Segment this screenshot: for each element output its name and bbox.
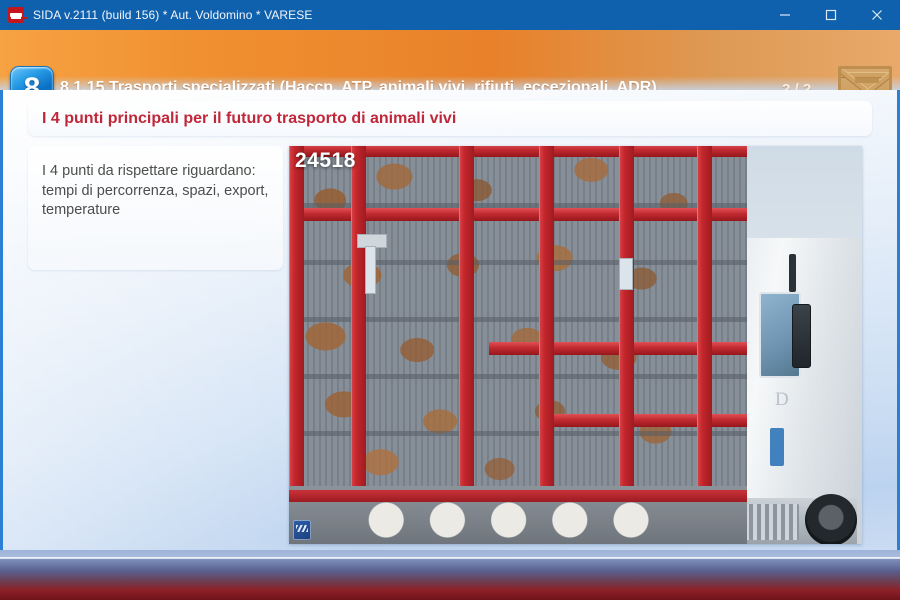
close-icon[interactable] — [854, 0, 900, 30]
truck-icon — [8, 7, 24, 23]
window-controls — [762, 0, 900, 30]
photo-cab-mirror — [792, 304, 811, 368]
photo-cab-grille — [741, 504, 799, 540]
chapter-header: 8 8.1.15 Trasporti specializzati (Haccp,… — [0, 30, 900, 90]
photo-overlay-number: 24518 — [295, 149, 356, 173]
photo-cab-wheel — [805, 494, 857, 544]
photo-strap-2 — [619, 258, 633, 290]
wooden-crate-icon — [838, 66, 892, 90]
photo-cab-marking: D — [775, 389, 789, 411]
photo-trailer-wheels — [359, 498, 699, 542]
slide-title: I 4 punti principali per il futuro trasp… — [42, 110, 456, 128]
page-counter: 2 / 2 — [782, 81, 811, 90]
maximize-icon[interactable] — [808, 0, 854, 30]
chapter-number-label: 8 — [24, 74, 41, 90]
photo-cab-stripe — [770, 428, 784, 466]
slide-body-text: I 4 punti da rispettare riguardano: temp… — [42, 162, 269, 221]
sida-watermark-icon — [293, 520, 311, 540]
photo-livestock-trailer — [289, 146, 747, 544]
slide-photo: D 24518 — [289, 146, 862, 544]
photo-strap-tail — [365, 246, 376, 294]
window-titlebar: SIDA v.2111 (build 156) * Aut. Voldomino… — [0, 0, 900, 30]
window-title: SIDA v.2111 (build 156) * Aut. Voldomino… — [33, 8, 313, 22]
slide-title-panel: I 4 punti principali per il futuro trasp… — [28, 101, 872, 136]
minimize-icon[interactable] — [762, 0, 808, 30]
application-window: SIDA v.2111 (build 156) * Aut. Voldomino… — [0, 0, 900, 600]
footer-toolbar: CQC — [0, 550, 900, 600]
slide-text-panel: I 4 punti da rispettare riguardano: temp… — [28, 146, 283, 270]
photo-cab-mirror-arm — [789, 254, 796, 292]
chapter-title: 8.1.15 Trasporti specializzati (Haccp, A… — [60, 79, 657, 90]
chapter-number-badge: 8 — [10, 66, 54, 90]
